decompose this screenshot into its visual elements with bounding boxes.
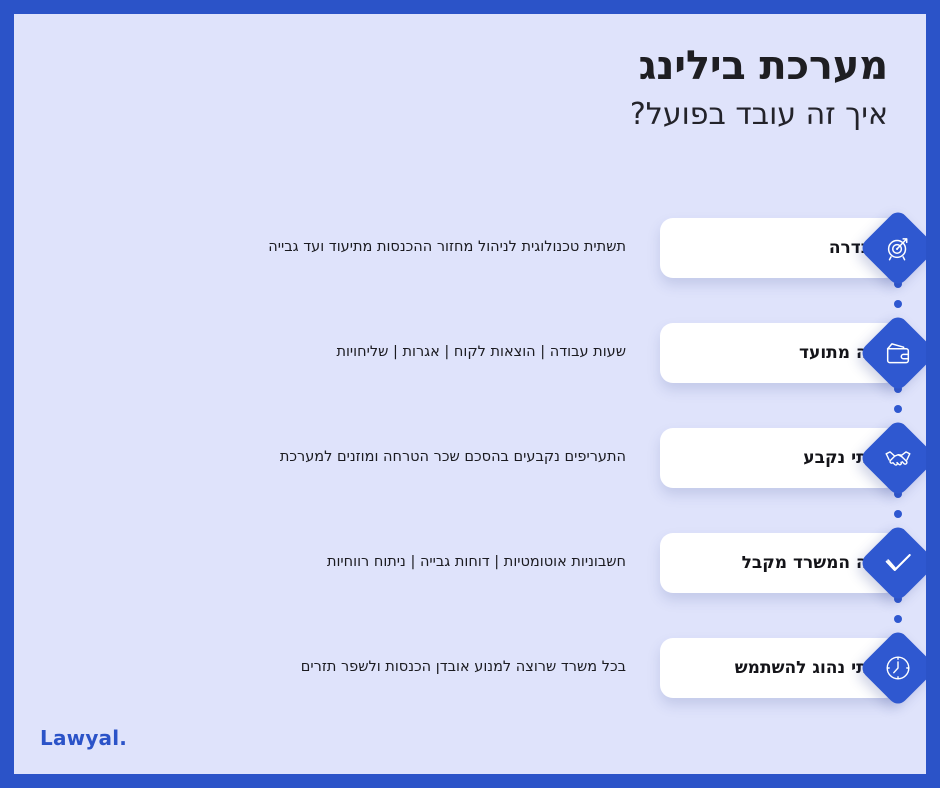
timeline: תשתית טכנולוגית לניהול מחזור ההכנסות מתי… [14, 210, 926, 710]
step-description-wrap-4: חשבוניות אוטומטיות | דוחות גבייה | ניתוח… [32, 525, 626, 601]
step-description-wrap-1: תשתית טכנולוגית לניהול מחזור ההכנסות מתי… [32, 210, 626, 286]
check-icon [883, 548, 913, 578]
header: מערכת בילינג איך זה עובד בפועל? [630, 44, 888, 133]
step-description-wrap-3: התעריפים נקבעים בהסכם שכר הטרחה ומוזנים … [32, 420, 626, 496]
timeline-step-5[interactable]: בכל משרד שרוצה למנוע אובדן הכנסות ולשפר … [14, 630, 926, 726]
page-subtitle: איך זה עובד בפועל? [630, 97, 888, 133]
connector-dot [894, 510, 902, 518]
handshake-icon [883, 443, 913, 473]
poster: מערכת בילינג איך זה עובד בפועל? תשתית טכ… [0, 0, 940, 788]
page-title: מערכת בילינג [630, 44, 888, 89]
timeline-step-1[interactable]: תשתית טכנולוגית לניהול מחזור ההכנסות מתי… [14, 210, 926, 306]
step-description-wrap-2: שעות עבודה | הוצאות לקוח | אגרות | שליחו… [32, 315, 626, 391]
timeline-step-2[interactable]: שעות עבודה | הוצאות לקוח | אגרות | שליחו… [14, 315, 926, 411]
timeline-step-4[interactable]: חשבוניות אוטומטיות | דוחות גבייה | ניתוח… [14, 525, 926, 621]
step-description-4: חשבוניות אוטומטיות | דוחות גבייה | ניתוח… [32, 552, 626, 573]
step-label-4: מה המשרד מקבל [742, 553, 880, 573]
step-description-1: תשתית טכנולוגית לניהול מחזור ההכנסות מתי… [32, 237, 626, 258]
wallet-icon [883, 338, 913, 368]
timeline-step-3[interactable]: התעריפים נקבעים בהסכם שכר הטרחה ומוזנים … [14, 420, 926, 516]
step-description-5: בכל משרד שרוצה למנוע אובדן הכנסות ולשפר … [32, 657, 626, 678]
target-icon [883, 233, 913, 263]
connector-dots-2 [894, 385, 902, 425]
connector-dot [894, 615, 902, 623]
step-label-5: מתי נהוג להשתמש [735, 658, 880, 678]
connector-dots-3 [894, 490, 902, 530]
connector-dots-1 [894, 280, 902, 320]
connector-dots-4 [894, 595, 902, 635]
connector-dot [894, 405, 902, 413]
step-description-3: התעריפים נקבעים בהסכם שכר הטרחה ומוזנים … [32, 447, 626, 468]
connector-dot [894, 300, 902, 308]
poster-inner: מערכת בילינג איך זה עובד בפועל? תשתית טכ… [14, 14, 926, 774]
clock-icon [883, 653, 913, 683]
step-description-2: שעות עבודה | הוצאות לקוח | אגרות | שליחו… [32, 342, 626, 363]
brand-logo: Lawyal. [40, 726, 127, 750]
step-description-wrap-5: בכל משרד שרוצה למנוע אובדן הכנסות ולשפר … [32, 630, 626, 706]
